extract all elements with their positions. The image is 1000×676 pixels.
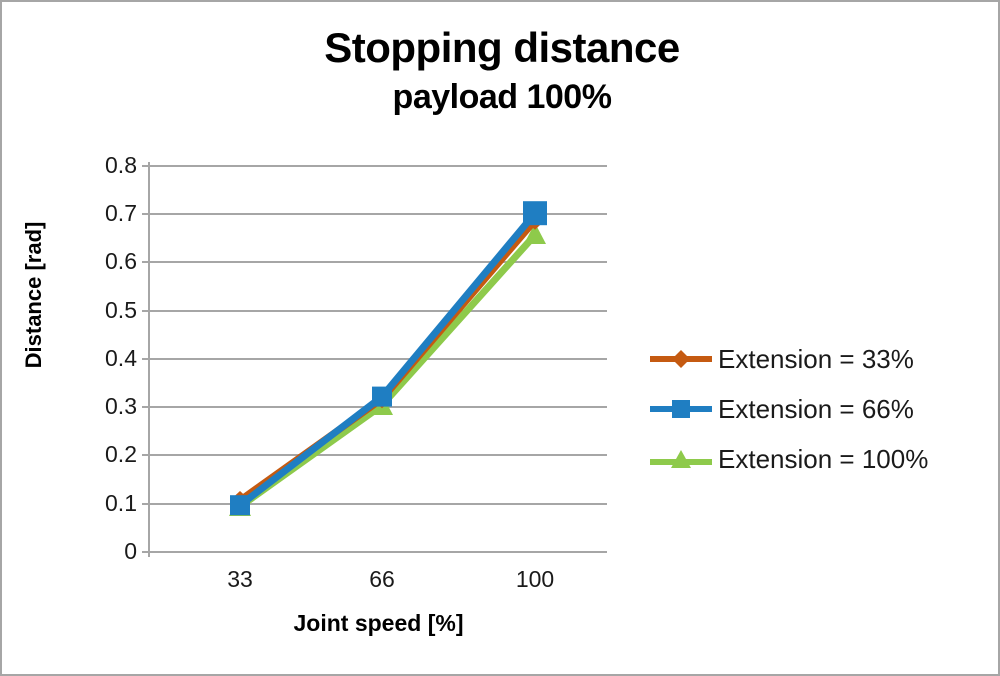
y-tick-mark [142,213,150,215]
legend-label: Extension = 100% [718,444,928,475]
x-tick-label: 100 [490,566,580,593]
marker-square-extension-66 [523,201,547,225]
y-axis-title: Distance [rad] [21,195,47,395]
y-tick-label: 0.7 [77,202,137,225]
legend-marker-square-icon [650,396,712,422]
x-tick-label: 66 [337,566,427,593]
y-tick-label: 0.6 [77,250,137,273]
chart-figure: Stopping distance payload 100% 0.8 0.7 0… [0,0,1000,676]
x-tick-label: 33 [195,566,285,593]
marker-square-extension-66 [230,495,250,515]
legend: Extension = 33% Extension = 66% Extensio… [650,334,990,484]
x-axis-title: Joint speed [%] [150,610,607,637]
y-tick-mark [142,310,150,312]
legend-marker-triangle-icon [650,446,712,472]
legend-label: Extension = 66% [718,394,914,425]
series-extension-66 [230,201,547,515]
y-tick-mark [142,551,150,553]
y-tick-label: 0.4 [77,347,137,370]
y-tick-label: 0.3 [77,395,137,418]
y-tick-label: 0 [77,540,137,563]
y-tick-mark [142,358,150,360]
legend-item-extension-66: Extension = 66% [650,384,990,434]
legend-item-extension-33: Extension = 33% [650,334,990,384]
y-tick-mark [142,406,150,408]
y-tick-label: 0.8 [77,154,137,177]
y-tick-mark [142,503,150,505]
marker-square-extension-66 [372,387,392,407]
series-plot [150,165,607,551]
legend-marker-diamond-icon [650,346,712,372]
page-title: Stopping distance [2,24,1000,72]
gridline-0 [150,551,607,553]
y-tick-label: 0.5 [77,299,137,322]
y-tick-label: 0.1 [77,492,137,515]
y-tick-mark [142,165,150,167]
y-tick-label: 0.2 [77,443,137,466]
y-tick-mark [142,261,150,263]
legend-label: Extension = 33% [718,344,914,375]
legend-item-extension-100: Extension = 100% [650,434,990,484]
y-axis-tick-labels: 0.8 0.7 0.6 0.5 0.4 0.3 0.2 0.1 0 [72,2,137,676]
chart-subtitle: payload 100% [2,76,1000,118]
y-tick-mark [142,454,150,456]
series-line-extension-66 [240,213,535,505]
chart-title-block: Stopping distance payload 100% [2,24,1000,118]
